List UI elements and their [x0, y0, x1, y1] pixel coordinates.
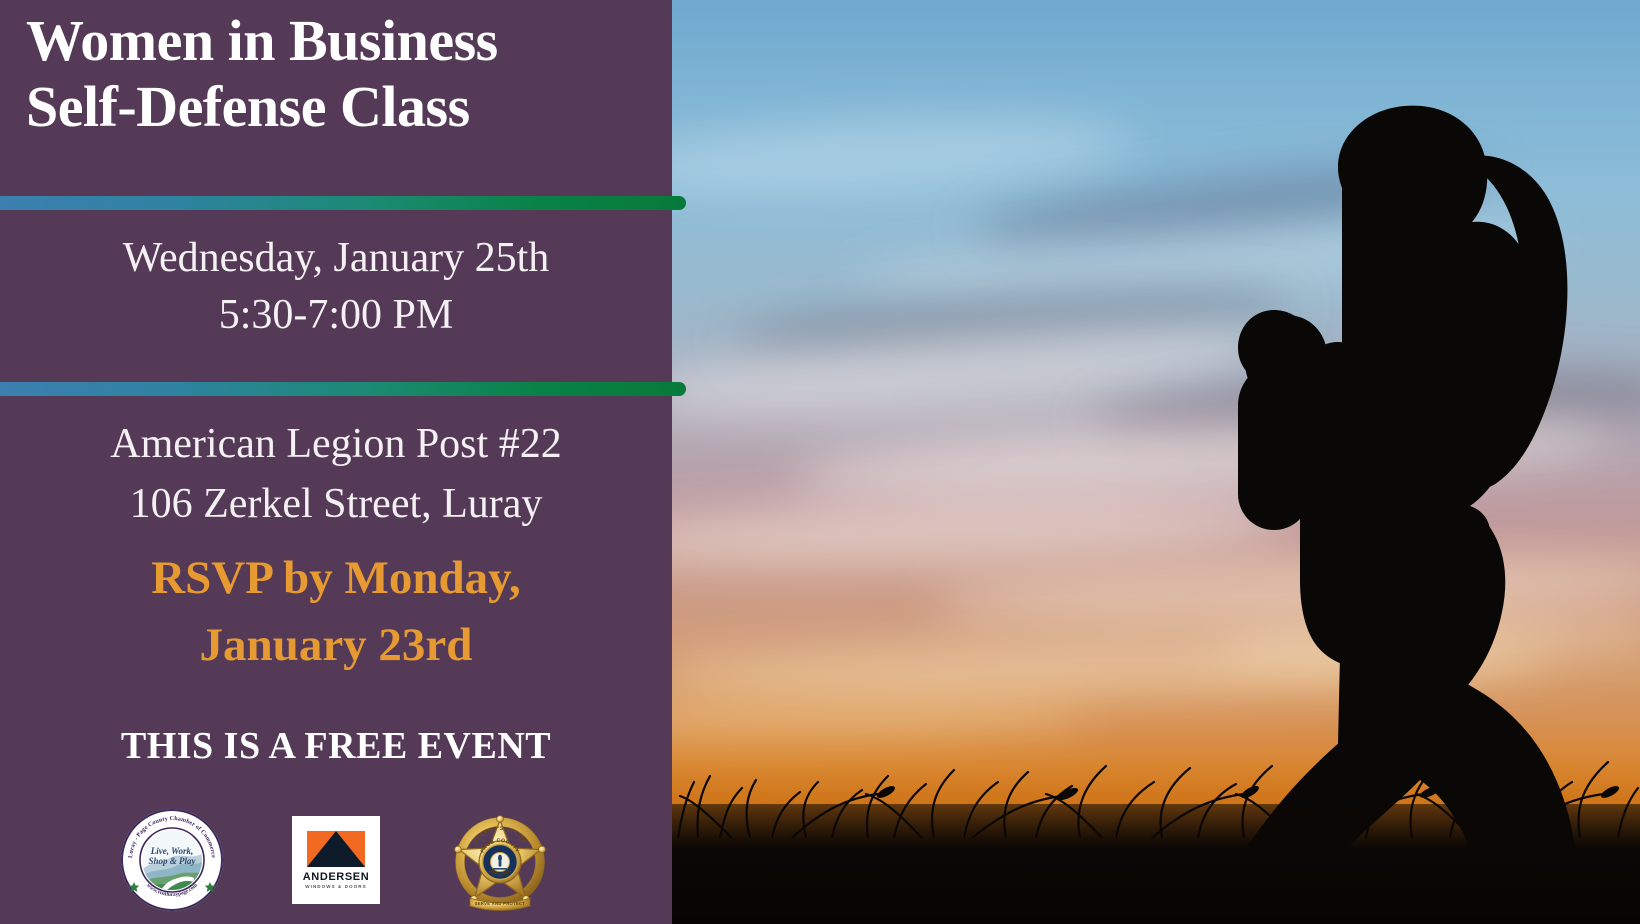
andersen-gable-mark: [307, 831, 365, 867]
venue-address: 106 Zerkel Street, Luray: [0, 475, 672, 535]
sunset-silhouette-photo: [672, 0, 1640, 924]
free-event-text: THIS IS A FREE EVENT: [0, 724, 672, 768]
title-line-2: Self-Defense Class: [26, 74, 656, 140]
venue-name: American Legion Post #22: [0, 415, 672, 475]
rsvp-line-2: January 23rd: [0, 612, 672, 679]
event-date: Wednesday, January 25th: [0, 230, 672, 287]
chamber-center-line-2: Shop & Play: [148, 856, 196, 866]
info-panel: Women in Business Self-Defense Class Wed…: [0, 0, 672, 924]
event-datetime: Wednesday, January 25th 5:30-7:00 PM: [0, 230, 672, 344]
andersen-tagline: WINDOWS & DOORS: [305, 885, 367, 890]
chamber-of-commerce-logo: Luray - Page County Chamber of Commerce …: [120, 808, 224, 912]
event-venue: American Legion Post #22 106 Zerkel Stre…: [0, 415, 672, 534]
badge-ribbon-text: SERVE AND PROTECT: [475, 901, 526, 906]
free-event-notice: THIS IS A FREE EVENT: [0, 724, 672, 768]
title-line-1: Women in Business: [26, 8, 656, 74]
ground-silhouette: [672, 804, 1640, 924]
event-time: 5:30-7:00 PM: [0, 287, 672, 344]
divider-rule-bottom: [0, 382, 686, 396]
andersen-wordmark: ANDERSEN: [303, 872, 370, 883]
event-flyer: Women in Business Self-Defense Class Wed…: [0, 0, 1640, 924]
chamber-center-line-1: Live, Work,: [150, 846, 193, 856]
sponsor-logos: Luray - Page County Chamber of Commerce …: [0, 808, 672, 912]
event-title: Women in Business Self-Defense Class: [0, 0, 672, 140]
andersen-logo: ANDERSEN WINDOWS & DOORS: [292, 816, 380, 904]
divider-rule-top: [0, 196, 686, 210]
rsvp-line-1: RSVP by Monday,: [0, 545, 672, 612]
sheriff-badge-logo: SHERIFF'S OFFICE PAGE COUNTY VIRGINIA SE…: [448, 808, 552, 912]
rsvp-notice: RSVP by Monday, January 23rd: [0, 545, 672, 678]
